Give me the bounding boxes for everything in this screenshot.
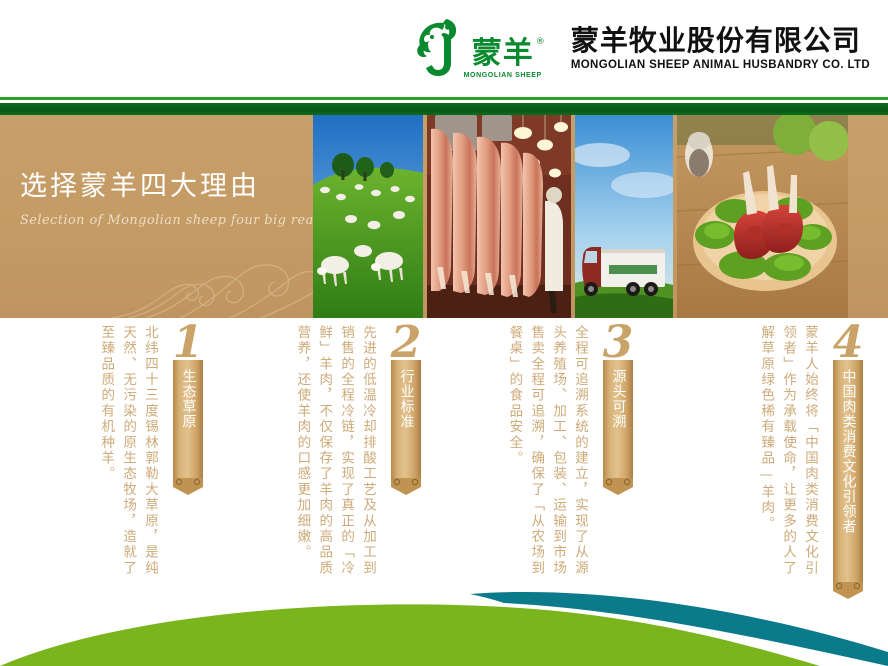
poster-page: 蒙羊 ® MONGOLIAN SHEEP 蒙羊牧业股份有限公司 MONGOLIA… bbox=[0, 0, 888, 666]
logo-wordmark: 蒙羊 ® MONGOLIAN SHEEP bbox=[464, 39, 542, 79]
ribbon-tail-ornament bbox=[603, 478, 633, 495]
reason-2-badge: 2 行业标准 bbox=[384, 325, 428, 495]
reason-1-number: 1 bbox=[173, 325, 204, 362]
reason-item-3: 3 源头可溯 全程可追溯系统的建立，实现了从源头养殖场、加工、包装、运输到市场售… bbox=[448, 325, 640, 595]
reason-item-4: 4 中国肉类消费文化引领者 蒙羊人始终将「中国肉类消费文化引领者」作为承载使命，… bbox=[662, 325, 870, 595]
reason-3-body: 全程可追溯系统的建立，实现了从源头养殖场、加工、包装、运输到市场售卖全程可追溯，… bbox=[448, 325, 596, 577]
reason-item-2: 2 行业标准 先进的低温冷却排酸工艺及从加工到销售的全程冷链，实现了真正的「冷鲜… bbox=[238, 325, 428, 595]
company-name-cn: 蒙羊牧业股份有限公司 bbox=[571, 25, 870, 56]
hero-banner: 选择蒙羊四大理由 Selection of Mongolian sheep fo… bbox=[0, 115, 888, 318]
reason-4-body: 蒙羊人始终将「中国肉类消费文化引领者」作为承载使命，让更多的人了解草原绿色稀有臻… bbox=[662, 325, 826, 577]
ribbon-tail-ornament bbox=[173, 478, 203, 495]
ribbon-tail-ornament bbox=[391, 478, 421, 495]
reason-4-number: 4 bbox=[833, 325, 864, 362]
reason-1-badge: 1 生态草原 bbox=[166, 325, 210, 495]
rule-green-thick bbox=[0, 103, 888, 115]
ram-head-icon bbox=[415, 17, 461, 79]
banner-photo-strip bbox=[313, 115, 850, 318]
page-header: 蒙羊 ® MONGOLIAN SHEEP 蒙羊牧业股份有限公司 MONGOLIA… bbox=[0, 0, 888, 96]
logo-mark: 蒙羊 ® MONGOLIAN SHEEP bbox=[415, 17, 542, 79]
logo-english-name: MONGOLIAN SHEEP bbox=[464, 72, 542, 79]
reasons-section: 1 生态草原 北纬四十三度锡林郭勒大草原，是纯天然、无污染的原生态牧场，造就了至… bbox=[0, 325, 888, 595]
reason-2-number: 2 bbox=[391, 325, 422, 362]
photo-lamb-chops-platter bbox=[677, 115, 848, 318]
reason-4-ribbon: 中国肉类消费文化引领者 bbox=[833, 360, 863, 582]
photo-meat-processing-plant bbox=[427, 115, 571, 318]
reason-1-ribbon-label: 生态草原 bbox=[180, 369, 195, 429]
reason-3-ribbon: 源头可溯 bbox=[603, 360, 633, 478]
reason-4-ribbon-label: 中国肉类消费文化引领者 bbox=[840, 369, 855, 534]
reason-3-ribbon-label: 源头可溯 bbox=[610, 369, 625, 429]
reason-1-body: 北纬四十三度锡林郭勒大草原，是纯天然、无污染的原生态牧场，造就了至臻品质的有机种… bbox=[28, 325, 166, 577]
registered-mark-icon: ® bbox=[536, 37, 545, 47]
banner-subtitle: Selection of Mongolian sheep four big re… bbox=[20, 213, 345, 228]
reason-2-ribbon-label: 行业标准 bbox=[398, 369, 413, 429]
reason-item-1: 1 生态草原 北纬四十三度锡林郭勒大草原，是纯天然、无污染的原生态牧场，造就了至… bbox=[28, 325, 210, 595]
reason-2-ribbon: 行业标准 bbox=[391, 360, 421, 478]
reason-3-badge: 3 源头可溯 bbox=[596, 325, 640, 495]
cloud-swirl-ornament bbox=[110, 240, 325, 318]
brand-logo: 蒙羊 ® MONGOLIAN SHEEP 蒙羊牧业股份有限公司 MONGOLIA… bbox=[415, 17, 870, 79]
reason-1-ribbon: 生态草原 bbox=[173, 360, 203, 478]
photo-refrigerated-truck bbox=[575, 115, 673, 318]
reason-2-body: 先进的低温冷却排酸工艺及从加工到销售的全程冷链，实现了真正的「冷鲜」羊肉，不仅保… bbox=[238, 325, 384, 577]
company-name-en: MONGOLIAN SHEEP ANIMAL HUSBANDRY CO. LTD bbox=[571, 59, 870, 71]
company-name-block: 蒙羊牧业股份有限公司 MONGOLIAN SHEEP ANIMAL HUSBAN… bbox=[571, 25, 870, 71]
reason-4-badge: 4 中国肉类消费文化引领者 bbox=[826, 325, 870, 599]
photo-sheep-grazing-pasture bbox=[313, 115, 423, 318]
banner-text-block: 选择蒙羊四大理由 Selection of Mongolian sheep fo… bbox=[20, 173, 345, 228]
logo-chinese-name: 蒙羊 bbox=[472, 36, 534, 71]
reason-3-number: 3 bbox=[603, 325, 634, 362]
banner-title: 选择蒙羊四大理由 bbox=[20, 173, 345, 200]
footer-swoosh bbox=[0, 566, 888, 666]
logo-divider bbox=[556, 21, 557, 75]
